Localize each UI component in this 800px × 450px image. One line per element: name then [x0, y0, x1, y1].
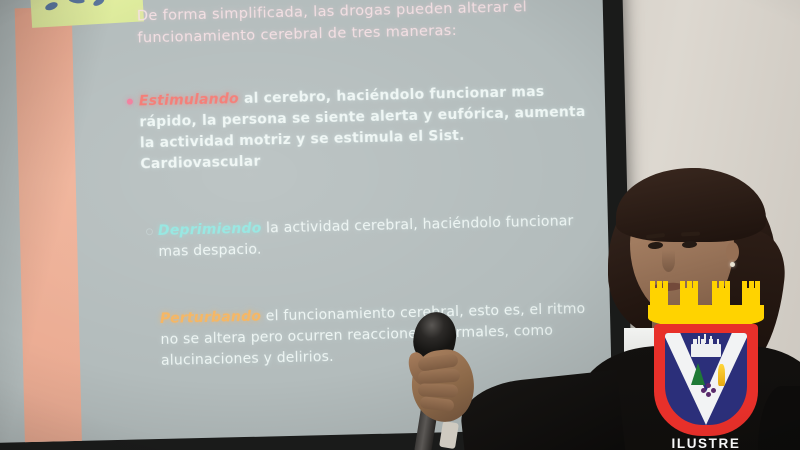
ear	[726, 242, 739, 262]
slide-bullet-3: Perturbando el funcionamiento cerebral, …	[160, 299, 593, 372]
bullet-2-text: Deprimiendo la actividad cerebral, hacié…	[158, 211, 591, 263]
municipal-logo: ILUSTRE MUNICIPALIDAD	[612, 288, 800, 450]
handheld-microphone	[392, 312, 512, 450]
nose	[662, 250, 675, 272]
microphone-band	[439, 421, 459, 449]
slide-sidebar-accent	[15, 7, 82, 443]
logo-line-1: ILUSTRE	[612, 436, 800, 450]
thumbnail-mark	[92, 0, 105, 7]
bullet-1-text: Estimulando al cerebro, haciéndolo funci…	[139, 81, 589, 176]
hair-fringe	[616, 168, 766, 242]
presentation-slide: De forma simplificada, las drogas pueden…	[0, 0, 613, 443]
thumbnail-mark	[44, 1, 59, 12]
photo-scene: De forma simplificada, las drogas pueden…	[0, 0, 800, 450]
bullet-1-keyword: Estimulando	[139, 91, 239, 109]
slide-body: De forma simplificada, las drogas pueden…	[137, 0, 594, 372]
mural-crown-icon	[648, 288, 764, 328]
torch-icon	[718, 364, 725, 386]
slide-title: De forma simplificada, las drogas pueden…	[137, 0, 586, 49]
castle-icon	[691, 344, 721, 357]
grapes-icon	[701, 383, 717, 399]
bullet-marker-icon	[127, 99, 133, 105]
bullet-3-text: Perturbando el funcionamiento cerebral, …	[160, 299, 593, 372]
slide-bullet-2: Deprimiendo la actividad cerebral, hacié…	[158, 211, 591, 263]
tree-icon	[691, 363, 705, 385]
shield-field	[665, 333, 747, 425]
projection-screen-surface: De forma simplificada, las drogas pueden…	[0, 0, 613, 443]
finger	[418, 383, 458, 397]
bullet-3-keyword: Perturbando	[160, 309, 261, 327]
thumbnail-mark	[68, 0, 85, 4]
coat-of-arms-shield-icon	[654, 324, 758, 436]
slide-thumbnail-image	[29, 0, 144, 28]
earring	[730, 262, 735, 267]
bullet-2-keyword: Deprimiendo	[158, 221, 262, 239]
bullet-marker-icon	[146, 228, 153, 235]
slide-bullet-1: Estimulando al cerebro, haciéndolo funci…	[139, 81, 589, 176]
